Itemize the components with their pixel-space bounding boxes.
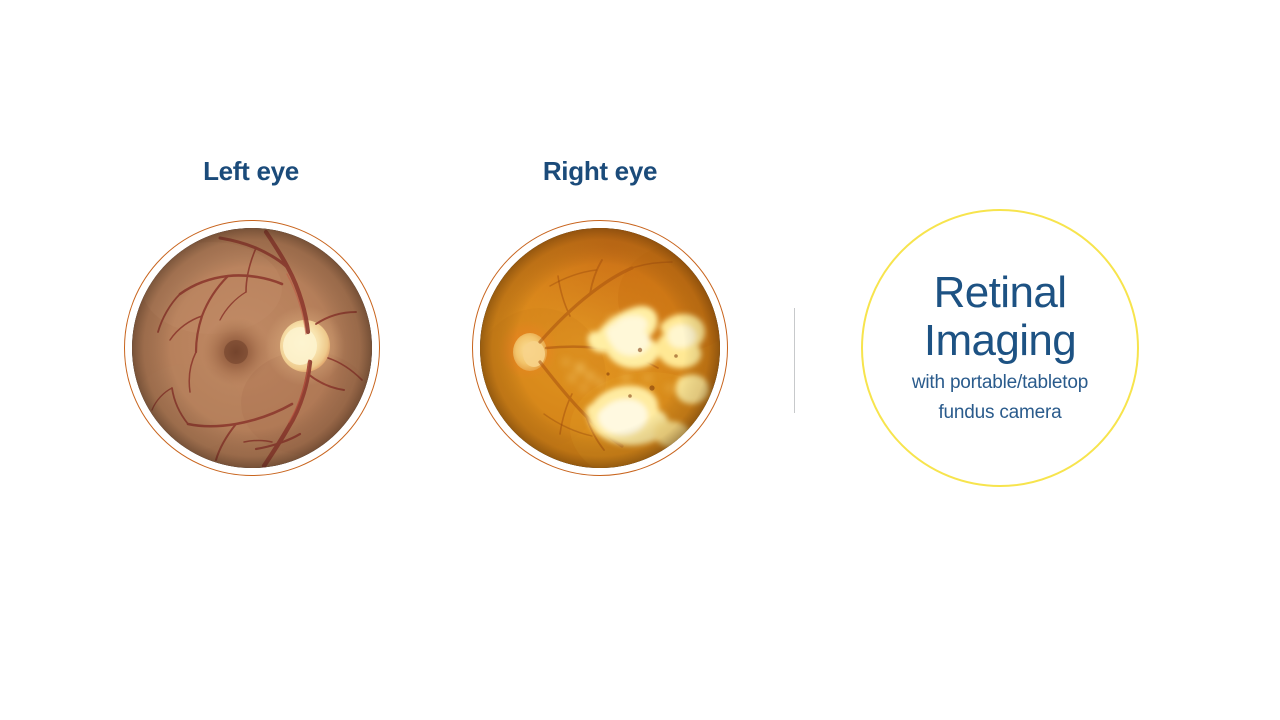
info-subtitle-line-2: fundus camera [912,398,1088,427]
info-circle-subtitle: with portable/tabletop fundus camera [912,368,1088,427]
info-subtitle-line-1: with portable/tabletop [912,368,1088,397]
eye-label-left: Left eye [203,158,299,184]
eye-panel-right: Right eye [458,158,742,478]
eye-panel-left: Left eye [110,158,392,478]
info-title-line-2: Imaging [924,317,1076,365]
info-circle-title: Retinal Imaging [924,269,1076,364]
fundus-photo-right-eye[interactable] [480,228,720,468]
eye-label-right: Right eye [543,158,657,184]
vertical-divider [794,308,795,413]
slide-canvas: Left eye [0,0,1280,720]
info-title-line-1: Retinal [924,269,1076,317]
fundus-photo-left-eye[interactable] [132,228,372,468]
retinal-imaging-info-circle: Retinal Imaging with portable/tabletop f… [861,209,1139,487]
